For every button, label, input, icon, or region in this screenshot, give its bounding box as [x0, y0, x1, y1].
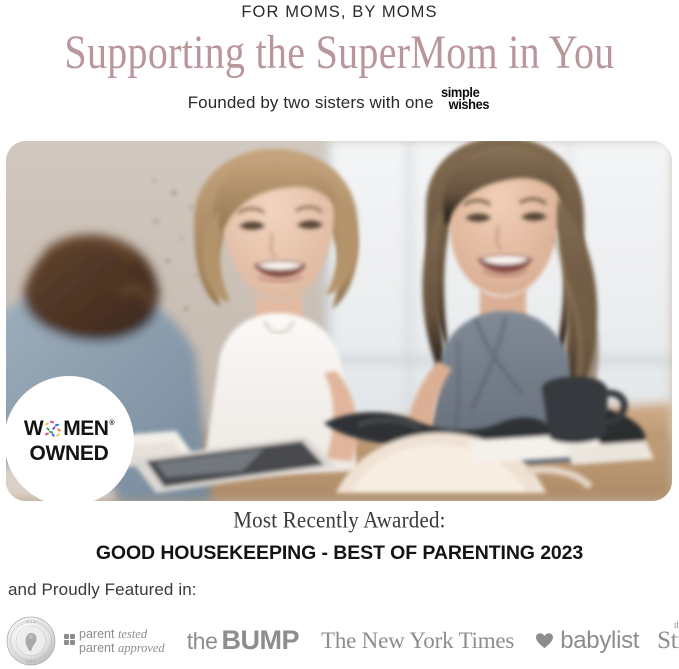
confetti-burst-icon [43, 420, 63, 440]
ptpa-line2: parent approved [79, 641, 165, 655]
women-owned-men: MEN [63, 418, 108, 439]
ptpa-line1: parent tested [79, 627, 165, 641]
press-logo-parent-tested-parent-approved: parent tested parent approved [64, 627, 165, 655]
press-logo-moms-choice-seal: ★ ★ ★ ★ ★ ★ [0, 616, 56, 666]
founded-row: Founded by two sisters with one simple w… [0, 86, 679, 111]
ptpa-squares-icon [64, 634, 75, 645]
the-bump-the: the [187, 628, 218, 655]
ptpa-line1-plain: parent [79, 627, 114, 641]
founded-text: Founded by two sisters with one [188, 94, 434, 111]
press-logo-the-strategist: the Strategist [657, 627, 679, 655]
press-logo-row: ★ ★ ★ ★ ★ ★ parent tested paren [0, 612, 679, 669]
svg-text:★ ★ ★: ★ ★ ★ [26, 659, 36, 663]
svg-text:★ ★ ★: ★ ★ ★ [26, 620, 36, 624]
page-title: Supporting the SuperMom in You [0, 28, 679, 78]
women-owned-line1: W MEN ® [24, 418, 114, 439]
eyebrow-text: FOR MOMS, BY MOMS [0, 0, 679, 21]
strategist-wordmark: Strategist [657, 627, 679, 655]
heart-icon-svg [536, 633, 553, 649]
ptpa-line2-plain: parent [79, 641, 114, 655]
award-seal-icon: ★ ★ ★ ★ ★ ★ [6, 616, 56, 666]
press-logo-babylist: babylist [536, 627, 639, 655]
babylist-wordmark: babylist [560, 627, 639, 655]
women-owned-badge: W MEN ® OWNED [4, 376, 134, 506]
ptpa-line1-script: tested [118, 627, 147, 641]
most-recently-awarded-label: Most Recently Awarded: [0, 507, 679, 535]
promo-page: FOR MOMS, BY MOMS Supporting the SuperMo… [0, 0, 679, 669]
simple-wishes-logo: simple wishes [441, 87, 492, 112]
featured-in-label: and Proudly Featured in: [8, 580, 197, 600]
registered-trademark-mark: ® [109, 420, 114, 427]
ptpa-text: parent tested parent approved [79, 627, 165, 655]
award-title: GOOD HOUSEKEEPING - BEST OF PARENTING 20… [0, 542, 679, 565]
ptpa-line2-script: approved [118, 641, 165, 655]
heart-icon [536, 633, 553, 649]
women-owned-w: W [24, 418, 43, 439]
press-logo-the-bump: the BUMP [187, 625, 299, 656]
the-bump-wordmark: BUMP [221, 625, 299, 656]
women-owned-line2: OWNED [30, 443, 109, 464]
press-logo-new-york-times: The New York Times [321, 628, 514, 654]
simple-wishes-logo-line2: wishes [441, 99, 489, 111]
strategist-the: the [674, 620, 679, 630]
